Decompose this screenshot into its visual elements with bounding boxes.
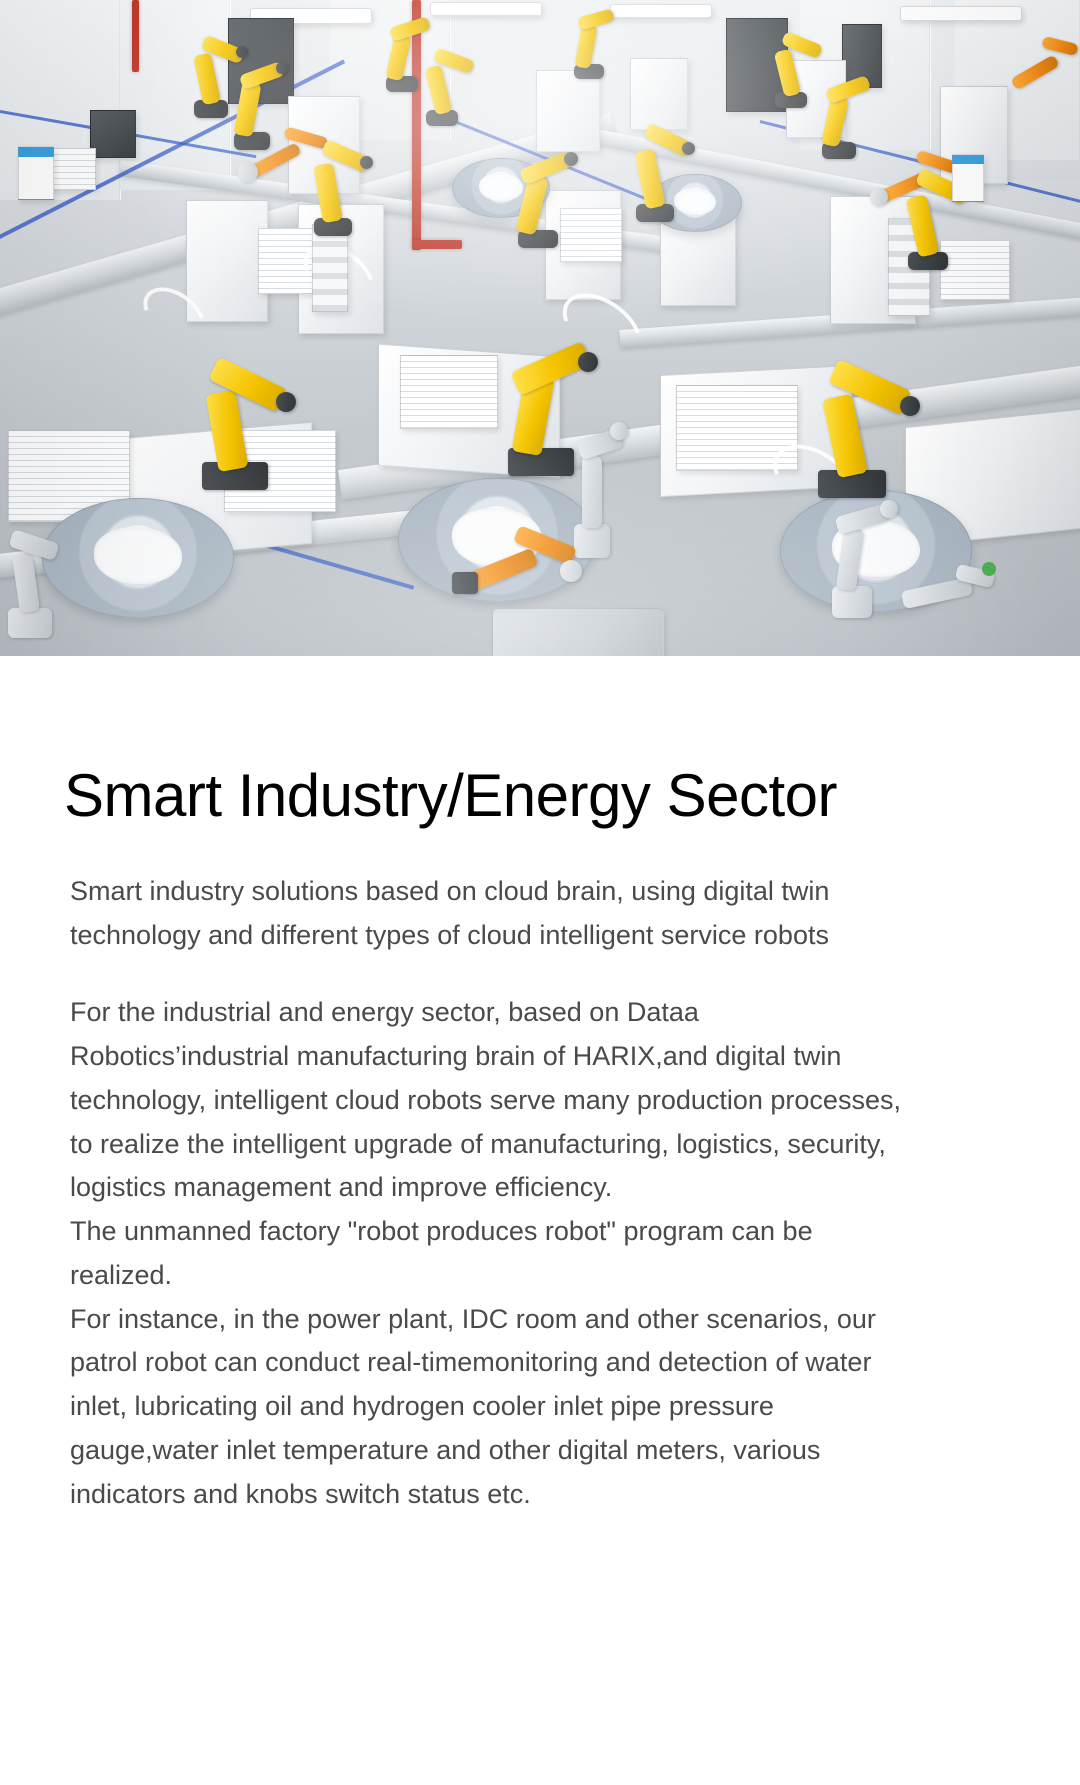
robot-arm-yellow [790,366,926,500]
article-paragraph: For instance, in the power plant, IDC ro… [70,1298,910,1517]
robot-arm-yellow [498,150,582,250]
article-body: For the industrial and energy sector, ba… [70,991,910,1516]
robot-arm-yellow [616,124,696,224]
robot-arm-grey [886,540,996,630]
status-signboard [952,154,984,202]
red-safety-post [132,0,139,72]
article-paragraph: For the industrial and energy sector, ba… [70,991,910,1210]
hero-image [0,0,1080,656]
robot-arm-yellow [172,362,302,492]
machine-base [492,608,664,656]
robot-arm-yellow [410,50,476,130]
red-safety-post [412,240,462,249]
ceiling-light [430,2,542,16]
status-signboard [18,146,54,200]
robot-arm-grey [0,530,78,640]
robot-arm-orange [452,520,582,610]
robot-arm-yellow [806,78,874,164]
robot-arm-orange [1000,22,1076,102]
factory-scene [0,0,1080,656]
ceiling-light [900,6,1022,21]
article-lede: Smart industry solutions based on cloud … [70,870,910,957]
article-paragraph: The unmanned factory "robot produces rob… [70,1210,910,1297]
equipment-cabinet [90,110,136,158]
article-content: Smart Industry/Energy Sector Smart indus… [0,766,1080,1516]
robot-arm-yellow [296,140,372,238]
machine-block [536,70,600,152]
machine-block [630,58,688,130]
robot-arm-yellow [560,10,620,82]
machine-block [186,200,268,322]
ceiling-light [610,4,712,18]
page-title: Smart Industry/Energy Sector [64,766,1016,826]
